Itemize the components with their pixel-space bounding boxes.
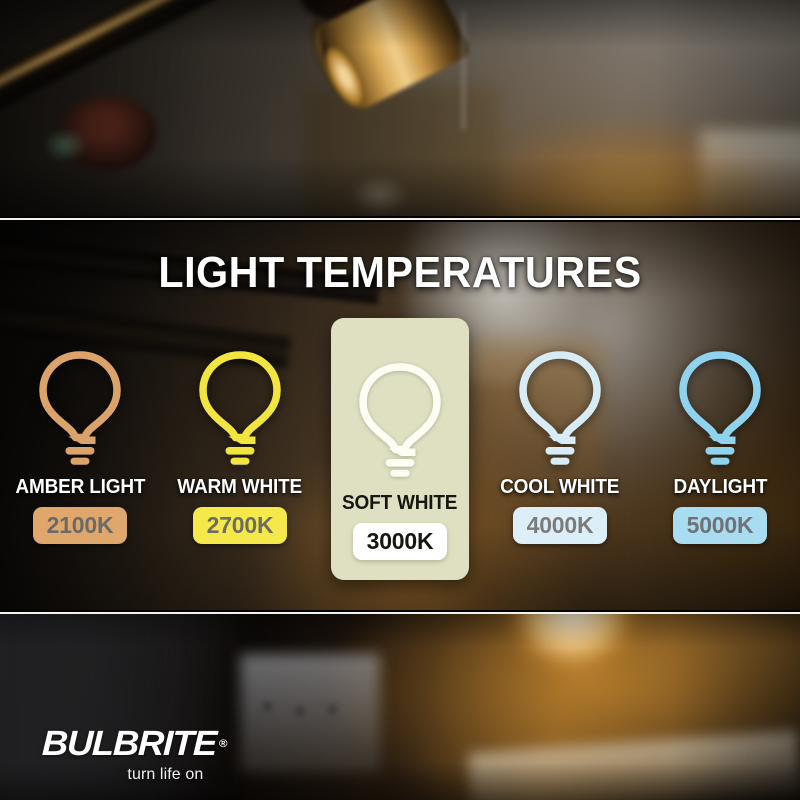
kelvin-badge: 4000K — [513, 507, 608, 544]
logo-tagline: turn life on — [42, 766, 209, 783]
kelvin-badge: 5000K — [673, 507, 768, 544]
logo-wordmark: BULBRITE® — [41, 726, 216, 761]
light-bulb-icon — [192, 348, 288, 466]
temperature-item-daylight[interactable]: DAYLIGHT 5000K — [640, 330, 800, 570]
light-bulb-icon — [352, 360, 448, 478]
temperature-item-cool-white[interactable]: COOL WHITE 4000K — [480, 330, 640, 570]
temperature-label: WARM WHITE — [178, 476, 303, 498]
registered-trademark-icon: ® — [218, 727, 228, 762]
temperature-label: COOL WHITE — [500, 476, 619, 498]
divider-top-line — [0, 218, 800, 220]
temperature-label: SOFT WHITE — [342, 492, 457, 514]
light-temperatures-poster: LIGHT TEMPERATURES AMBER LIGHT 2100K — [0, 0, 800, 800]
bulbrite-logo: BULBRITE® turn life on — [42, 726, 209, 783]
temperature-item-warm-white[interactable]: WARM WHITE 2700K — [160, 330, 320, 570]
kelvin-badge: 3000K — [353, 523, 448, 560]
light-bulb-icon — [32, 348, 128, 466]
kelvin-badge: 2700K — [193, 507, 288, 544]
temperature-scale: AMBER LIGHT 2100K WARM WHITE 2700K — [0, 330, 800, 570]
logo-wordmark-text: BULBRITE — [41, 724, 216, 763]
photo-vignette — [0, 0, 800, 218]
page-title: LIGHT TEMPERATURES — [24, 250, 776, 296]
light-bulb-icon — [672, 348, 768, 466]
temperature-label: AMBER LIGHT — [15, 476, 145, 498]
top-photo-band — [0, 0, 800, 218]
light-bulb-icon — [512, 348, 608, 466]
temperature-item-amber-light[interactable]: AMBER LIGHT 2100K — [0, 330, 160, 570]
temperature-item-soft-white[interactable]: SOFT WHITE 3000K — [320, 330, 480, 570]
temperature-label: DAYLIGHT — [673, 476, 767, 498]
kelvin-badge: 2100K — [33, 507, 128, 544]
